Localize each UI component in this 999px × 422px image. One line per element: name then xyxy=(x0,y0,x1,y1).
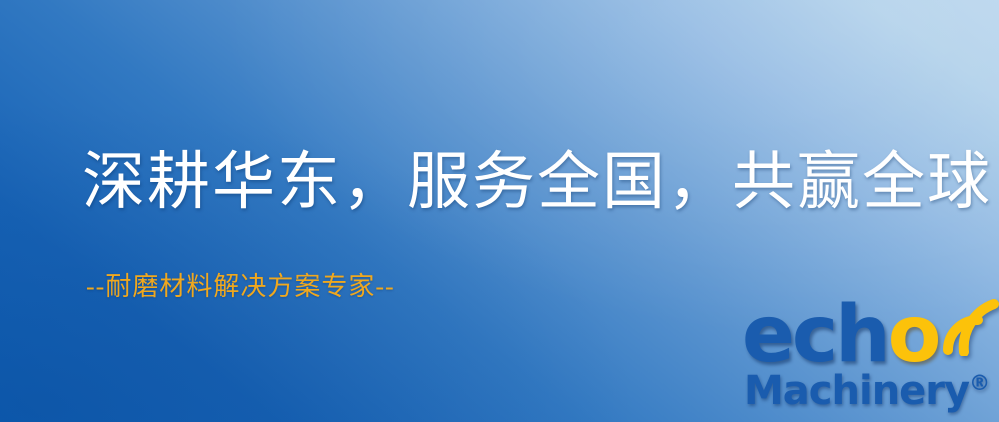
logo-letter-h: h xyxy=(835,290,888,380)
logo-company-text: Machinery xyxy=(744,368,969,414)
logo-wordmark-echo: echo xyxy=(742,296,938,374)
banner-headline: 深耕华东，服务全国，共赢全球 xyxy=(82,148,992,217)
logo-letter-c: c xyxy=(792,290,835,380)
promo-banner: 深耕华东，服务全国，共赢全球 --耐磨材料解决方案专家-- echo Machi… xyxy=(0,0,999,422)
registered-trademark-icon: ® xyxy=(969,371,990,395)
echo-machinery-logo: echo Machinery® xyxy=(742,296,999,422)
logo-company-name: Machinery® xyxy=(744,368,990,414)
logo-letter-o: o xyxy=(888,290,939,380)
banner-subheadline: --耐磨材料解决方案专家-- xyxy=(86,266,395,303)
signal-arcs-icon xyxy=(938,294,999,356)
logo-letter-e: e xyxy=(742,290,792,380)
